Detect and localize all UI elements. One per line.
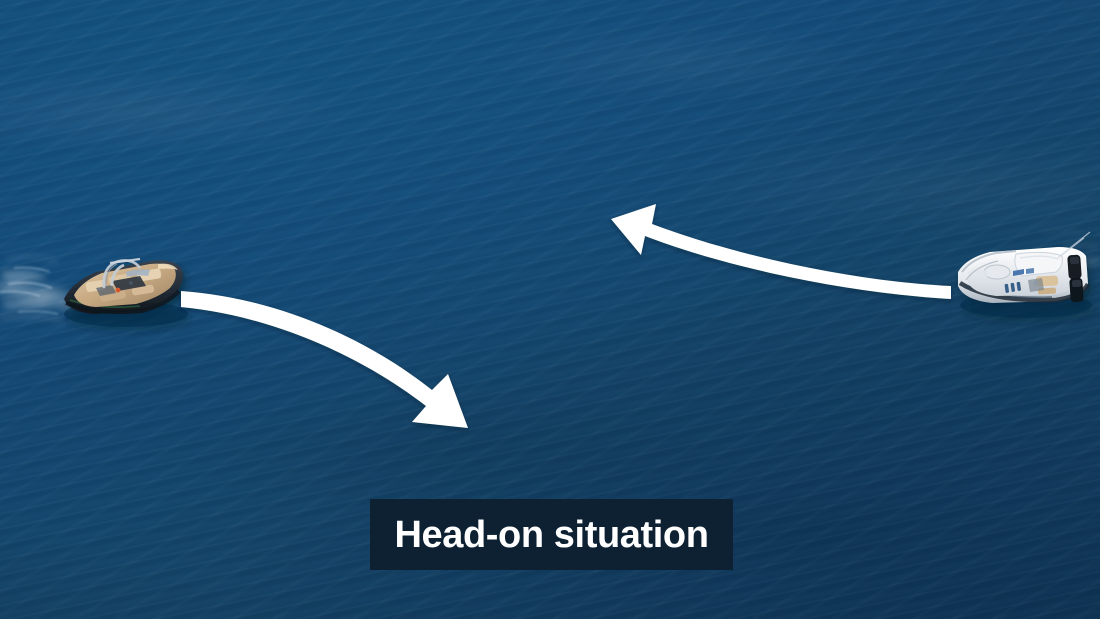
caption-label: Head-on situation [394,516,708,554]
left-boat [64,259,188,327]
scene-canvas: Head-on situation [0,0,1100,619]
caption-banner: Head-on situation [370,499,733,570]
left-vessel-course-arrow [181,291,468,428]
right-vessel-course-arrow [611,204,951,299]
